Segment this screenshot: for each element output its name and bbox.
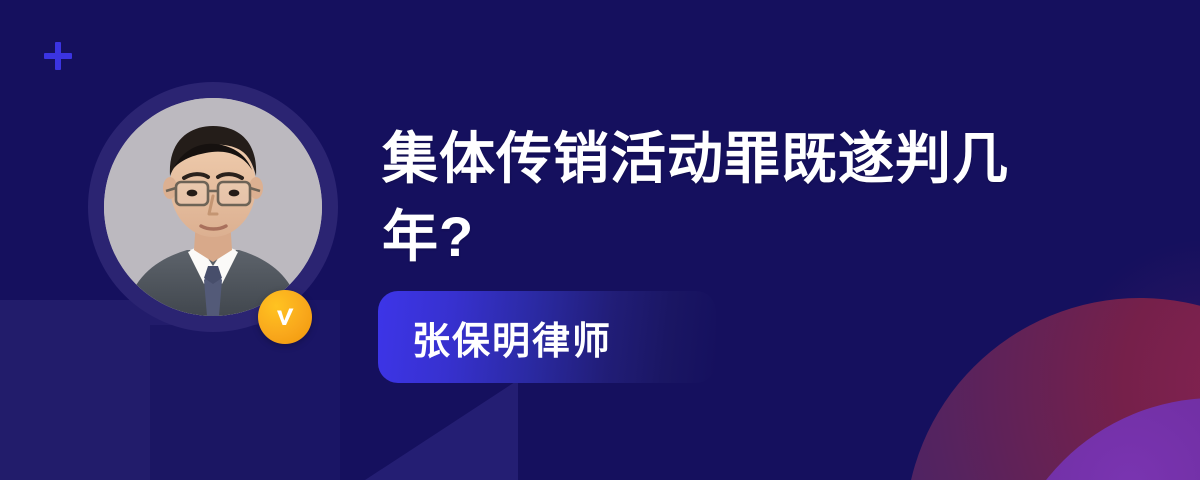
plus-icon-vertical-bar: [55, 42, 61, 70]
avatar[interactable]: [88, 82, 338, 332]
plus-icon: [42, 40, 74, 72]
background-polygon-mid: [150, 325, 310, 480]
verified-v-icon: [258, 290, 312, 344]
lawyer-promo-banner: 集体传销活动罪既遂判几年? 张保明律师: [0, 0, 1200, 480]
avatar-photo: [104, 98, 322, 316]
page-title: 集体传销活动罪既遂判几年?: [382, 120, 1082, 276]
headline-block: 集体传销活动罪既遂判几年?: [382, 120, 1082, 276]
lawyer-name-button[interactable]: 张保明律师: [378, 291, 716, 383]
